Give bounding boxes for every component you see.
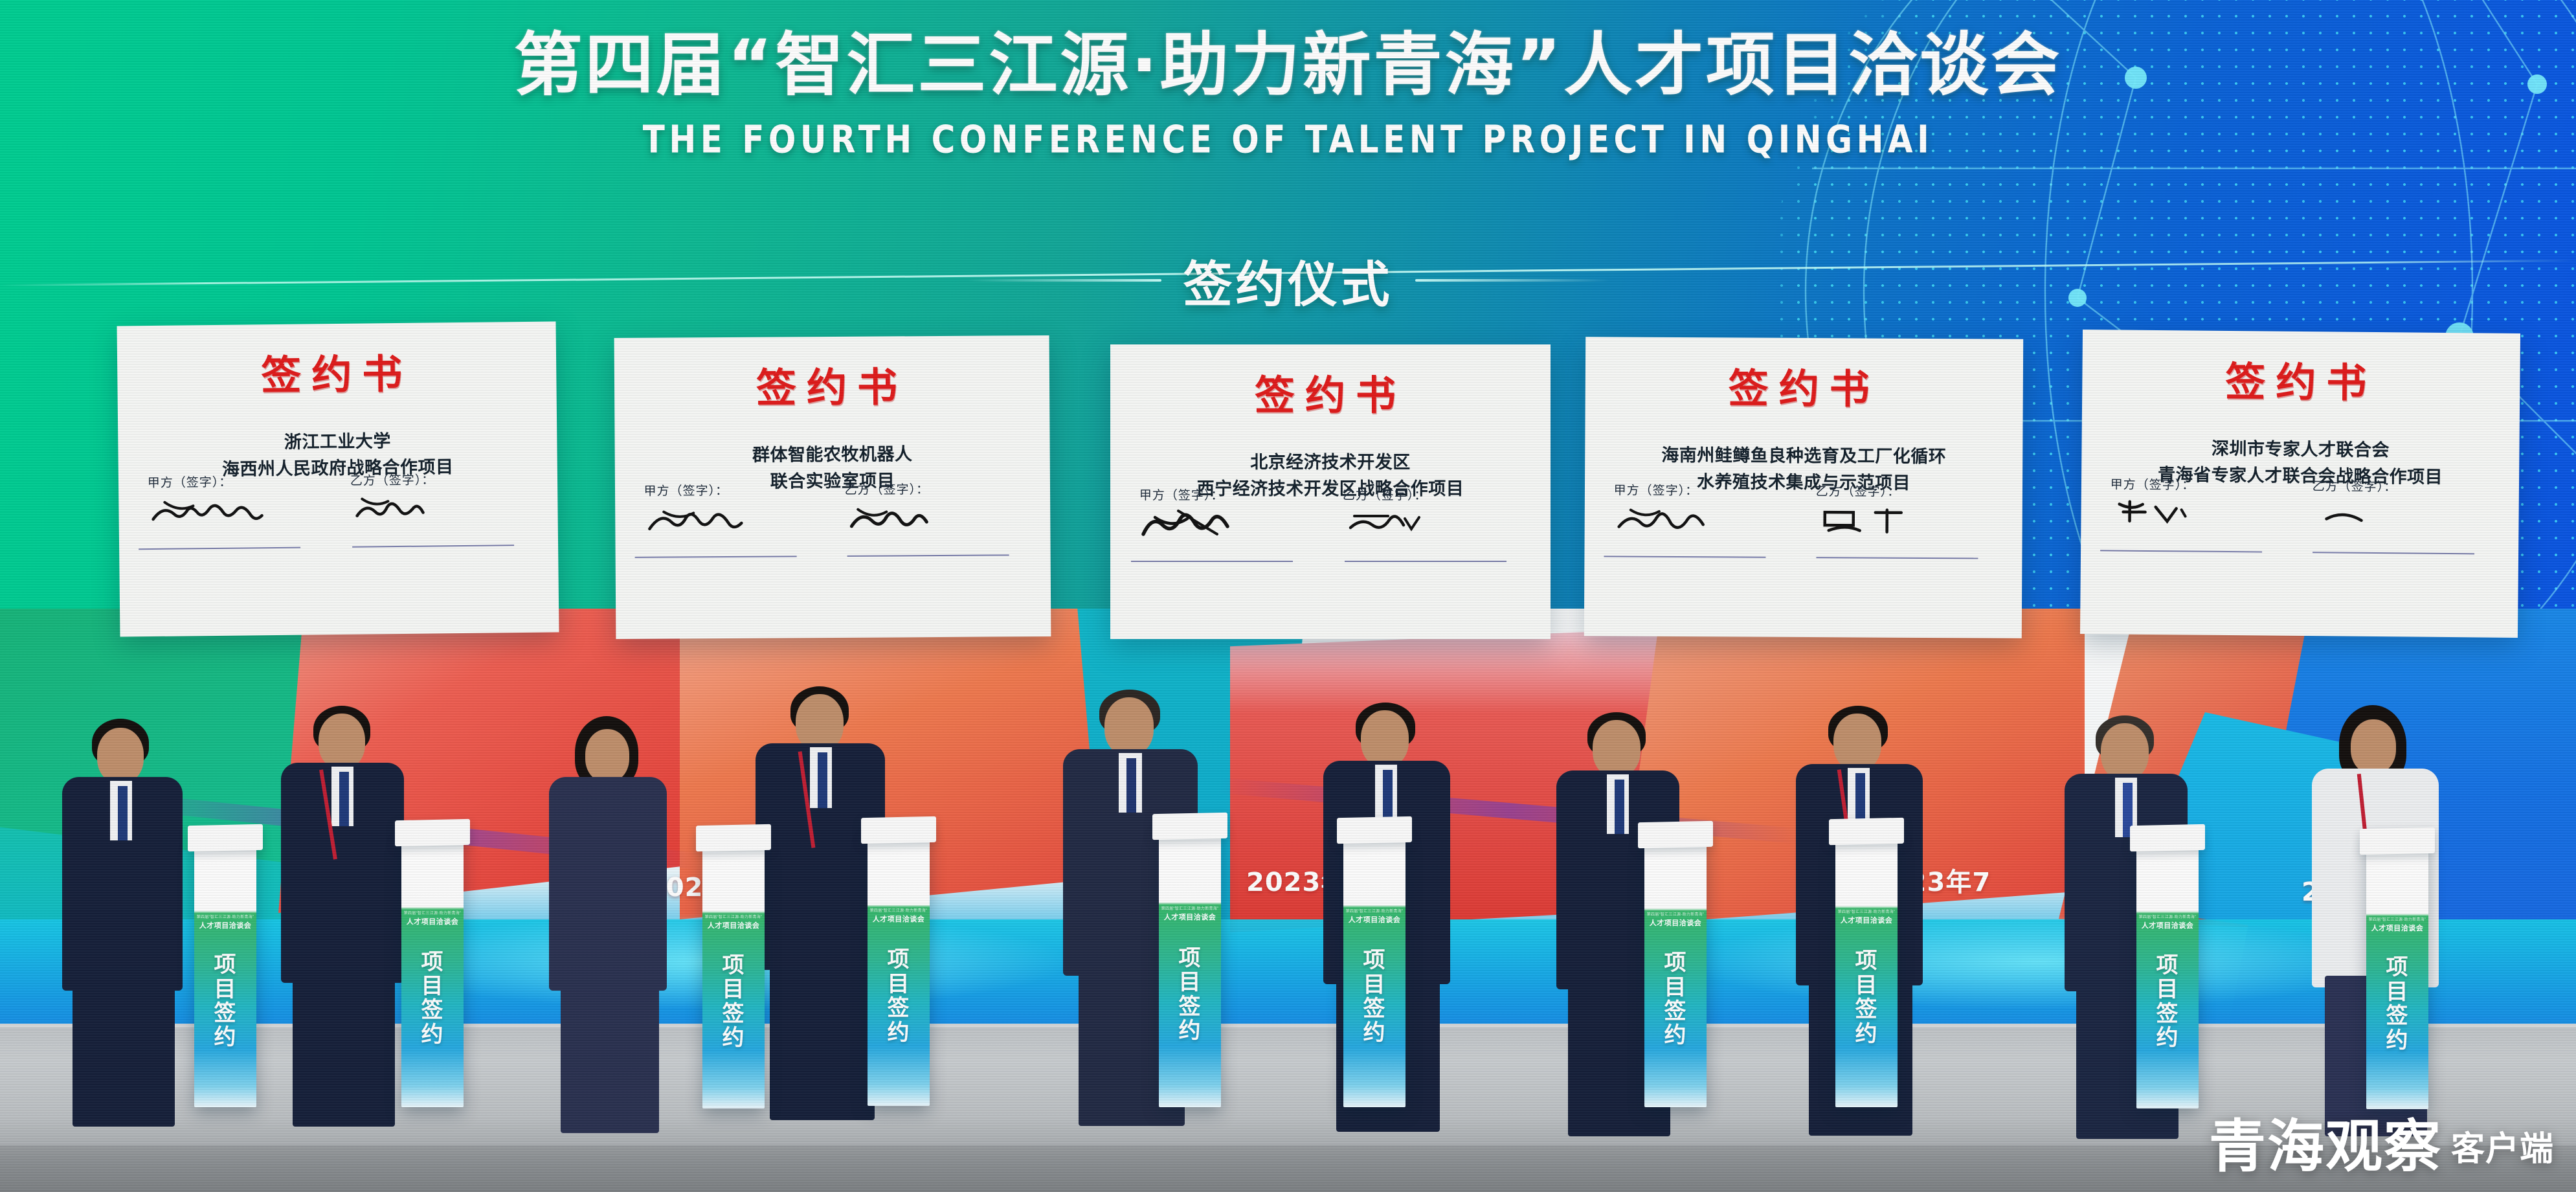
ribbon-glow-2 bbox=[1683, 913, 2395, 1010]
podium-sign: 第四届“智汇三江源·助力新青海” 人才项目洽谈会 项 目 签 约 bbox=[1159, 830, 1221, 1107]
signing-board: 签约书 群体智能农牧机器人 联合实验室项目 甲方（签字）： 乙方（签字）： bbox=[614, 335, 1051, 639]
podium-header: 第四届“智汇三江源·助力新青海” 人才项目洽谈会 bbox=[1644, 911, 1707, 928]
party-b-label: 乙方（签字）： bbox=[1343, 486, 1521, 503]
podium-header: 第四届“智汇三江源·助力新青海” 人才项目洽谈会 bbox=[1159, 905, 1221, 922]
podium-big-label: 项 目 签 约 bbox=[2136, 954, 2199, 1051]
podium-header-line: 人才项目洽谈会 bbox=[401, 916, 464, 927]
signer-person bbox=[544, 719, 673, 1107]
podium-header-line: 人才项目洽谈会 bbox=[1644, 917, 1707, 928]
podium-char: 项 bbox=[702, 954, 765, 978]
podium-char: 目 bbox=[1835, 974, 1898, 998]
board-heading: 签约书 bbox=[614, 354, 1050, 414]
podium-sign: 第四届“智汇三江源·助力新青海” 人才项目洽谈会 项 目 签 约 bbox=[2366, 845, 2428, 1109]
podium-char: 约 bbox=[1159, 1019, 1221, 1043]
photo-stage: 第四届“智汇三江源·助力新青海”人才项目洽谈会 THE FOURTH CONFE… bbox=[0, 0, 2576, 1192]
podium-char: 项 bbox=[1343, 949, 1406, 973]
podium-char: 签 bbox=[868, 996, 930, 1020]
signer-person bbox=[278, 706, 408, 1107]
signature-rule-b bbox=[1345, 561, 1506, 562]
watermark-suffix: 客户端 bbox=[2451, 1121, 2554, 1174]
podium-char: 约 bbox=[1644, 1024, 1707, 1048]
board-heading: 签约书 bbox=[1585, 355, 2023, 416]
podium-header: 第四届“智汇三江源·助力新青海” 人才项目洽谈会 bbox=[868, 907, 930, 924]
podium-char: 签 bbox=[1343, 997, 1406, 1021]
watermark: 青海观察 客户端 bbox=[2209, 1119, 2554, 1174]
podium-char: 签 bbox=[1159, 995, 1221, 1019]
podium-header-small: 第四届“智汇三江源·助力新青海” bbox=[401, 910, 464, 916]
podium-char: 约 bbox=[868, 1021, 930, 1045]
podium-header: 第四届“智汇三江源·助力新青海” 人才项目洽谈会 bbox=[1343, 908, 1406, 925]
podium-header: 第四届“智汇三江源·助力新青海” 人才项目洽谈会 bbox=[2366, 916, 2428, 933]
podium-header: 第四届“智汇三江源·助力新青海” 人才项目洽谈会 bbox=[2136, 914, 2199, 930]
board-heading: 签约书 bbox=[117, 339, 557, 402]
board-signature-area: 甲方（签字）： 乙方（签字）： bbox=[118, 469, 558, 530]
board-heading: 签约书 bbox=[2082, 348, 2520, 410]
board-signature-area: 甲方（签字）： 乙方（签字）： bbox=[2081, 475, 2519, 535]
podium-char: 项 bbox=[2136, 954, 2199, 978]
board-heading: 签约书 bbox=[1110, 363, 1551, 421]
page-subtitle-english: THE FOURTH CONFERENCE OF TALENT PROJECT … bbox=[0, 117, 2576, 161]
page-title: 第四届“智汇三江源·助力新青海”人才项目洽谈会 bbox=[0, 26, 2576, 106]
party-a-label: 甲方（签字）： bbox=[1614, 480, 1792, 499]
podium-header: 第四届“智汇三江源·助力新青海” 人才项目洽谈会 bbox=[194, 914, 256, 930]
podium-header-line: 人才项目洽谈会 bbox=[194, 920, 256, 930]
podium-sign: 第四届“智汇三江源·助力新青海” 人才项目洽谈会 项 目 签 约 bbox=[1835, 835, 1898, 1107]
podium-char: 项 bbox=[868, 948, 930, 972]
party-a-signature bbox=[644, 500, 821, 538]
podium-char: 签 bbox=[1644, 1000, 1707, 1024]
signing-board: 签约书 北京经济技术开发区 西宁经济技术开发区战略合作项目 甲方（签字）： 乙方… bbox=[1110, 344, 1551, 639]
podium-header-small: 第四届“智汇三江源·助力新青海” bbox=[868, 907, 930, 913]
signature-rule-a bbox=[1131, 561, 1293, 562]
podium-header: 第四届“智汇三江源·助力新青海” 人才项目洽谈会 bbox=[702, 914, 765, 930]
podium-char: 目 bbox=[194, 978, 256, 1002]
podium-header-small: 第四届“智汇三江源·助力新青海” bbox=[2136, 914, 2199, 919]
podium-char: 目 bbox=[401, 974, 464, 998]
podium-char: 项 bbox=[194, 953, 256, 977]
podium-paper-top bbox=[2130, 824, 2205, 851]
headline-block: 第四届“智汇三江源·助力新青海”人才项目洽谈会 THE FOURTH CONFE… bbox=[0, 26, 2576, 155]
podium-big-label: 项 目 签 约 bbox=[1644, 951, 1707, 1048]
podium-char: 签 bbox=[1835, 998, 1898, 1022]
podium-header-small: 第四届“智汇三江源·助力新青海” bbox=[1835, 908, 1898, 914]
podium-big-label: 项 目 签 约 bbox=[1159, 947, 1221, 1044]
board-signature-area: 甲方（签字）： 乙方（签字）： bbox=[1585, 480, 2022, 539]
podium-char: 目 bbox=[2136, 978, 2199, 1002]
party-a-signature bbox=[1139, 506, 1318, 542]
ceremony-rule-left bbox=[967, 279, 1161, 282]
signing-board: 签约书 海南州鲑鳟鱼良种选育及工厂化循环 水养殖技术集成与示范项目 甲方（签字）… bbox=[1584, 337, 2023, 638]
podium-paper-top bbox=[1152, 813, 1227, 840]
podium-paper-top bbox=[2360, 827, 2435, 855]
podium-char: 目 bbox=[1644, 976, 1707, 1000]
podium-char: 约 bbox=[194, 1026, 256, 1050]
podium-big-label: 项 目 签 约 bbox=[1343, 949, 1406, 1046]
podium-sign: 第四届“智汇三江源·助力新青海” 人才项目洽谈会 项 目 签 约 bbox=[702, 842, 765, 1108]
podium-char: 目 bbox=[1159, 971, 1221, 995]
podium-char: 签 bbox=[2136, 1002, 2199, 1026]
party-b-signature bbox=[350, 489, 529, 528]
podium-big-label: 项 目 签 约 bbox=[401, 950, 464, 1048]
podium-char: 目 bbox=[2366, 980, 2428, 1004]
podium-header-small: 第四届“智汇三江源·助力新青海” bbox=[2366, 916, 2428, 922]
podium-char: 约 bbox=[1835, 1022, 1898, 1046]
board-signature-area: 甲方（签字）： 乙方（签字）： bbox=[1110, 486, 1551, 542]
podium-big-label: 项 目 签 约 bbox=[702, 954, 765, 1051]
ceremony-rule-right bbox=[1415, 279, 1609, 282]
podium-char: 目 bbox=[1343, 973, 1406, 997]
signer-person bbox=[58, 719, 188, 1107]
podium-header-line: 人才项目洽谈会 bbox=[2366, 923, 2428, 933]
party-b-label: 乙方（签字）： bbox=[1816, 482, 1994, 500]
podium-paper-top bbox=[861, 816, 936, 844]
podium-char: 项 bbox=[1644, 951, 1707, 975]
board-signature-area: 甲方（签字）： 乙方（签字）： bbox=[615, 479, 1051, 538]
party-b-label: 乙方（签字）： bbox=[350, 469, 529, 489]
podium-paper-top bbox=[696, 824, 771, 851]
podium-char: 签 bbox=[194, 1002, 256, 1026]
podium-char: 项 bbox=[1835, 949, 1898, 973]
podium-sign: 第四届“智汇三江源·助力新青海” 人才项目洽谈会 项 目 签 约 bbox=[401, 837, 464, 1107]
podium-sign: 第四届“智汇三江源·助力新青海” 人才项目洽谈会 项 目 签 约 bbox=[1644, 838, 1707, 1107]
podium-header-small: 第四届“智汇三江源·助力新青海” bbox=[194, 914, 256, 919]
podium-paper-top bbox=[1638, 821, 1713, 848]
podium-big-label: 项 目 签 约 bbox=[2366, 956, 2428, 1053]
party-a-label: 甲方（签字）： bbox=[148, 471, 326, 491]
board-project-line: 海南州鲑鳟鱼良种选育及工厂化循环 bbox=[1585, 442, 2022, 471]
podium-char: 签 bbox=[702, 1002, 765, 1026]
party-a-signature bbox=[1613, 500, 1791, 537]
podium-sign: 第四届“智汇三江源·助力新青海” 人才项目洽谈会 项 目 签 约 bbox=[194, 842, 256, 1107]
party-a-label: 甲方（签字）： bbox=[644, 480, 821, 499]
podium-header-small: 第四届“智汇三江源·助力新青海” bbox=[1159, 905, 1221, 911]
party-b-signature bbox=[2312, 497, 2490, 534]
podium-header-small: 第四届“智汇三江源·助力新青海” bbox=[1644, 911, 1707, 917]
podium-sign: 第四届“智汇三江源·助力新青海” 人才项目洽谈会 项 目 签 约 bbox=[868, 834, 930, 1106]
podium-sign: 第四届“智汇三江源·助力新青海” 人才项目洽谈会 项 目 签 约 bbox=[2136, 842, 2199, 1108]
party-b-label: 乙方（签字）： bbox=[845, 479, 1022, 498]
podium-header-line: 人才项目洽谈会 bbox=[868, 914, 930, 924]
party-b-label: 乙方（签字）： bbox=[2313, 477, 2491, 495]
signing-board: 签约书 浙江工业大学 海西州人民政府战略合作项目 甲方（签字）： 乙方（签字）： bbox=[117, 321, 559, 636]
podium-paper-top bbox=[395, 819, 470, 846]
podium-paper-top bbox=[188, 824, 263, 851]
board-project-line: 浙江工业大学 bbox=[118, 426, 557, 457]
podium-paper-top bbox=[1337, 816, 1412, 844]
podium-header-small: 第四届“智汇三江源·助力新青海” bbox=[1343, 908, 1406, 914]
podium-header-line: 人才项目洽谈会 bbox=[1343, 914, 1406, 925]
podium-char: 约 bbox=[1343, 1021, 1406, 1045]
ceremony-label: 签约仪式 bbox=[1183, 245, 1393, 316]
stage-floor-edge bbox=[0, 1145, 2576, 1192]
podium-header-line: 人才项目洽谈会 bbox=[2136, 920, 2199, 930]
podium-header-small: 第四届“智汇三江源·助力新青海” bbox=[702, 914, 765, 919]
podium-char: 目 bbox=[702, 978, 765, 1002]
party-a-signature bbox=[2110, 495, 2288, 532]
podium-big-label: 项 目 签 约 bbox=[1835, 949, 1898, 1046]
podium-char: 项 bbox=[2366, 956, 2428, 980]
podium-big-label: 项 目 签 约 bbox=[194, 953, 256, 1050]
podium-char: 约 bbox=[401, 1023, 464, 1047]
podium-paper-top bbox=[1829, 818, 1904, 845]
party-b-signature bbox=[1343, 506, 1521, 542]
watermark-brand: 青海观察 bbox=[2209, 1119, 2442, 1174]
board-project-line: 群体智能农牧机器人 bbox=[615, 440, 1050, 469]
podium-char: 目 bbox=[868, 973, 930, 996]
podium-header-line: 人才项目洽谈会 bbox=[702, 920, 765, 930]
podium-char: 项 bbox=[401, 950, 464, 974]
ceremony-label-row: 签约仪式 bbox=[0, 245, 2576, 316]
board-project-line: 北京经济技术开发区 bbox=[1110, 449, 1551, 476]
party-b-signature bbox=[1815, 502, 1993, 539]
party-a-signature bbox=[148, 491, 326, 530]
podium-header-line: 人才项目洽谈会 bbox=[1835, 915, 1898, 925]
podium-big-label: 项 目 签 约 bbox=[868, 948, 930, 1045]
podium-char: 约 bbox=[2136, 1026, 2199, 1050]
podium-char: 约 bbox=[2366, 1029, 2428, 1053]
podium-header: 第四届“智汇三江源·助力新青海” 人才项目洽谈会 bbox=[1835, 908, 1898, 925]
party-b-signature bbox=[845, 499, 1022, 537]
podium-char: 签 bbox=[401, 998, 464, 1022]
podium-header-line: 人才项目洽谈会 bbox=[1159, 912, 1221, 922]
podium-header: 第四届“智汇三江源·助力新青海” 人才项目洽谈会 bbox=[401, 910, 464, 927]
party-a-label: 甲方（签字）： bbox=[2111, 475, 2289, 493]
podium-sign: 第四届“智汇三江源·助力新青海” 人才项目洽谈会 项 目 签 约 bbox=[1343, 834, 1406, 1107]
board-project-line: 深圳市专家人才联合会 bbox=[2081, 434, 2519, 465]
signing-board: 签约书 深圳市专家人才联合会 青海省专家人才联合会战略合作项目 甲方（签字）： … bbox=[2080, 330, 2520, 638]
podium-char: 约 bbox=[702, 1026, 765, 1050]
podium-char: 签 bbox=[2366, 1004, 2428, 1028]
podium-char: 项 bbox=[1159, 947, 1221, 971]
party-a-label: 甲方（签字）： bbox=[1139, 486, 1318, 503]
